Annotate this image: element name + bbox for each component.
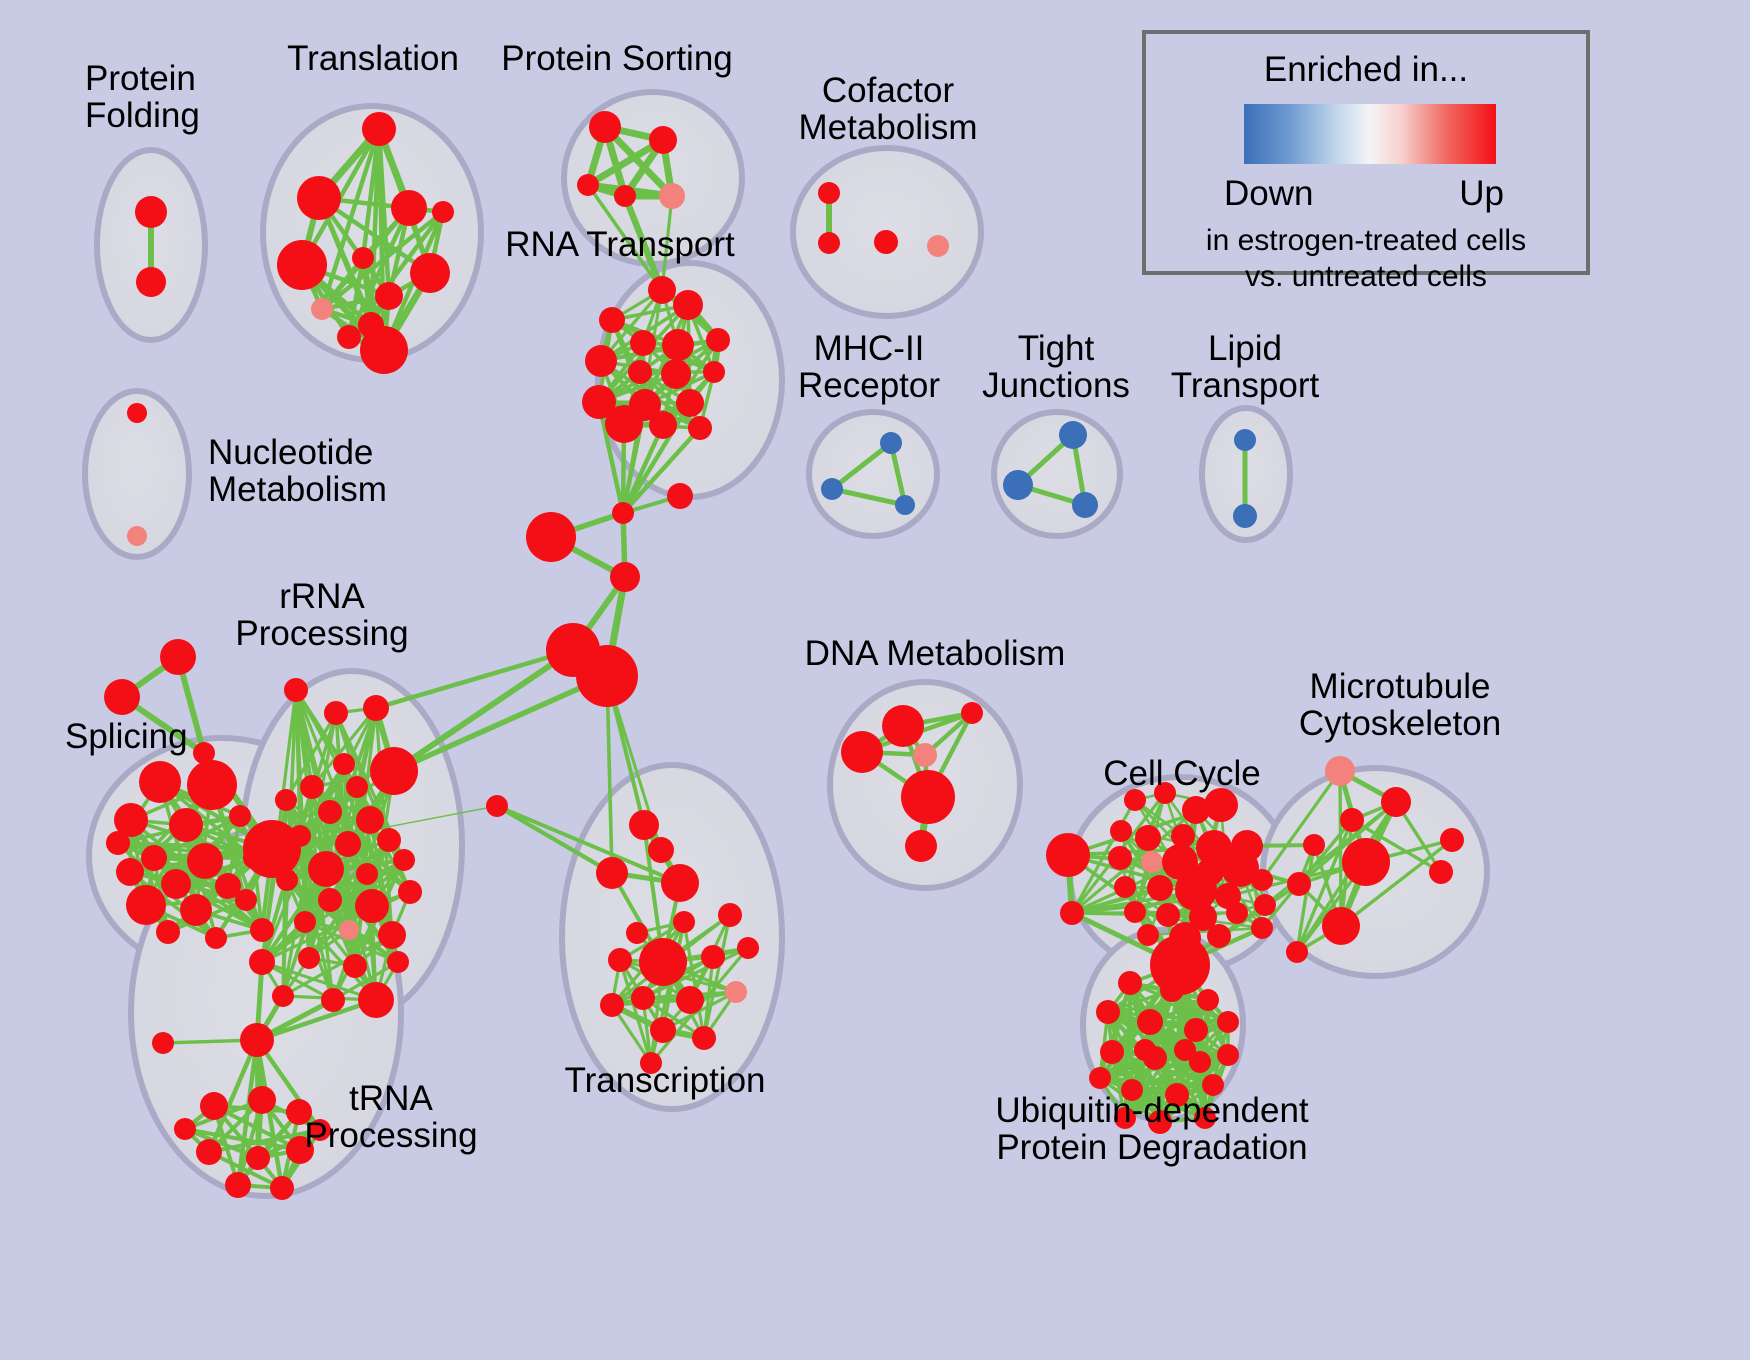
network-node [1156, 903, 1180, 927]
network-node [576, 645, 638, 707]
network-node [486, 795, 508, 817]
network-node [927, 235, 949, 257]
network-node [612, 502, 634, 524]
network-node [1124, 901, 1146, 923]
network-node [600, 993, 624, 1017]
network-node [673, 290, 703, 320]
network-node [116, 858, 144, 886]
network-node [1197, 989, 1219, 1011]
network-node [205, 927, 227, 949]
network-node [363, 695, 389, 721]
network-node [841, 731, 883, 773]
network-node [673, 911, 695, 933]
cluster-label-nucleotide-metabolism: Nucleotide Metabolism [208, 434, 387, 509]
cluster-label-dna-metabolism: DNA Metabolism [805, 635, 1066, 672]
network-node [648, 276, 676, 304]
network-node [1184, 1018, 1208, 1042]
cluster-label-transcription: Transcription [565, 1062, 766, 1099]
network-edge [376, 650, 573, 708]
network-node [180, 894, 212, 926]
network-node [630, 330, 656, 356]
network-node [1175, 869, 1217, 911]
network-node [1217, 1011, 1239, 1033]
network-node [152, 1032, 174, 1054]
network-node [300, 775, 324, 799]
network-node [1072, 492, 1098, 518]
network-node [725, 981, 747, 1003]
network-node [141, 845, 167, 871]
network-node [1089, 1067, 1111, 1089]
network-node [1322, 907, 1360, 945]
network-node [311, 298, 333, 320]
network-node [1059, 421, 1087, 449]
network-node [1137, 924, 1159, 946]
network-node [358, 982, 394, 1018]
network-node [1226, 902, 1248, 924]
cluster-label-trna-processing: tRNA Processing [304, 1080, 477, 1155]
network-node [160, 639, 196, 675]
network-node [187, 843, 223, 879]
cluster-label-cofactor-metabolism: Cofactor Metabolism [799, 72, 978, 147]
network-node [355, 889, 389, 923]
network-node [294, 911, 316, 933]
cluster-label-microtubule-cytoskeleton: Microtubule Cytoskeleton [1299, 668, 1501, 743]
cluster-label-splicing: Splicing [65, 718, 188, 755]
network-node [398, 880, 422, 904]
network-node [126, 885, 166, 925]
legend-box: Enriched in... Down Up in estrogen-treat… [1142, 30, 1590, 275]
network-node [339, 920, 359, 940]
network-node [1046, 833, 1090, 877]
network-node [298, 947, 320, 969]
network-node [249, 949, 275, 975]
cluster-label-rrna-processing: rRNA Processing [235, 578, 408, 653]
cluster-ellipse-mhc-ii-receptor [809, 412, 937, 536]
network-node [156, 920, 180, 944]
network-node [589, 111, 621, 143]
network-node [1160, 978, 1184, 1002]
network-node [248, 1086, 276, 1114]
network-node [289, 825, 311, 847]
network-node [1147, 875, 1173, 901]
network-node [818, 232, 840, 254]
network-node [135, 196, 167, 228]
network-node [1233, 504, 1257, 528]
network-node [1204, 788, 1238, 822]
cluster-label-rna-transport: RNA Transport [505, 226, 735, 263]
network-node [614, 185, 636, 207]
network-node [718, 903, 742, 927]
network-node [1429, 860, 1453, 884]
network-node [905, 830, 937, 862]
network-node [1440, 828, 1464, 852]
network-node [1114, 876, 1136, 898]
network-node [1100, 1040, 1124, 1064]
network-node [308, 851, 344, 887]
network-node [1108, 846, 1132, 870]
network-node [375, 282, 403, 310]
network-node [1340, 808, 1364, 832]
network-node [250, 918, 274, 942]
network-node [1003, 470, 1033, 500]
network-node [377, 828, 401, 852]
network-node [362, 112, 396, 146]
network-node [895, 495, 915, 515]
network-node [324, 701, 348, 725]
network-node [1110, 820, 1132, 842]
enrichment-map-figure: Protein Folding Translation Protein Sort… [0, 0, 1750, 1360]
network-node [1134, 1039, 1156, 1061]
network-node [662, 329, 694, 361]
network-node [356, 806, 384, 834]
network-node [692, 1026, 716, 1050]
network-node [676, 389, 704, 417]
network-node [661, 864, 699, 902]
network-node [284, 678, 308, 702]
network-node [1381, 787, 1411, 817]
network-node [882, 705, 924, 747]
network-node [127, 403, 147, 423]
cluster-label-tight-junctions: Tight Junctions [982, 330, 1130, 405]
network-node [174, 1118, 196, 1140]
network-node [127, 526, 147, 546]
network-node [661, 359, 691, 389]
network-node [1325, 756, 1355, 786]
network-node [318, 800, 342, 824]
network-node [277, 240, 327, 290]
network-node [1303, 834, 1325, 856]
network-node [337, 325, 361, 349]
network-node [1141, 851, 1163, 873]
network-node [626, 922, 648, 944]
network-node [235, 889, 257, 911]
network-node [378, 921, 406, 949]
network-node [821, 478, 843, 500]
network-node [360, 326, 408, 374]
network-node [318, 888, 342, 912]
network-node [225, 1172, 251, 1198]
legend-title: Enriched in... [1146, 50, 1586, 90]
network-node [667, 483, 693, 509]
network-node [913, 743, 937, 767]
network-node [631, 986, 655, 1010]
network-node [599, 307, 625, 333]
network-node [346, 776, 368, 798]
network-node [343, 954, 367, 978]
network-node [628, 360, 652, 384]
network-node [961, 702, 983, 724]
network-node [577, 174, 599, 196]
network-node [596, 857, 628, 889]
network-node [688, 416, 712, 440]
network-node [161, 869, 191, 899]
network-node [585, 345, 617, 377]
network-node [335, 831, 361, 857]
network-node [297, 176, 341, 220]
network-node [701, 945, 725, 969]
network-node [276, 869, 298, 891]
color-scale-bar [1244, 104, 1496, 164]
network-node [391, 190, 427, 226]
network-node [106, 831, 130, 855]
network-node [874, 230, 898, 254]
network-node [659, 183, 685, 209]
network-node [639, 938, 687, 986]
network-node [1060, 901, 1084, 925]
network-node [605, 405, 643, 443]
cluster-label-mhc-ii-receptor: MHC-II Receptor [798, 330, 940, 405]
network-node [706, 328, 730, 352]
network-node [648, 837, 674, 863]
network-node [818, 182, 840, 204]
network-node [393, 849, 415, 871]
network-node [410, 253, 450, 293]
legend-subtitle-line2: vs. untreated cells [1146, 260, 1586, 294]
network-node [370, 747, 418, 795]
network-node [1342, 838, 1390, 886]
cluster-label-protein-folding: Protein Folding [85, 60, 200, 135]
network-node [1118, 971, 1142, 995]
legend-down-label: Down [1224, 174, 1313, 214]
network-node [1137, 1009, 1163, 1035]
cluster-label-lipid-transport: Lipid Transport [1171, 330, 1319, 405]
network-node [229, 805, 251, 827]
network-node [1234, 429, 1256, 451]
network-node [880, 432, 902, 454]
network-node [387, 951, 409, 973]
cluster-label-translation: Translation [287, 40, 459, 77]
network-node [1207, 924, 1231, 948]
network-node [356, 863, 378, 885]
network-node [901, 770, 955, 824]
network-node [136, 267, 166, 297]
cluster-label-cell-cycle: Cell Cycle [1103, 755, 1261, 792]
network-node [321, 988, 345, 1012]
network-node [196, 1139, 222, 1165]
network-node [333, 753, 355, 775]
network-node [629, 810, 659, 840]
network-node [1251, 869, 1273, 891]
network-node [275, 789, 297, 811]
network-node [650, 1017, 676, 1043]
network-node [432, 201, 454, 223]
network-node [608, 948, 632, 972]
network-node [1096, 1000, 1120, 1024]
network-node [352, 247, 374, 269]
network-node [1217, 1044, 1239, 1066]
network-node [1251, 917, 1273, 939]
network-node [1254, 894, 1276, 916]
network-node [649, 411, 677, 439]
network-node [676, 986, 704, 1014]
network-node [104, 679, 140, 715]
network-node [169, 808, 203, 842]
network-node [1174, 1039, 1196, 1061]
network-node [240, 1023, 274, 1057]
network-node [526, 512, 576, 562]
network-node [1135, 825, 1161, 851]
cluster-label-ubiquitin-protein-degradation: Ubiquitin-dependent Protein Degradation [995, 1092, 1308, 1167]
network-node [1286, 941, 1308, 963]
network-node [1287, 872, 1311, 896]
network-node [200, 1092, 228, 1120]
network-node [610, 562, 640, 592]
network-node [737, 937, 759, 959]
legend-subtitle-line1: in estrogen-treated cells [1146, 224, 1586, 258]
network-node [649, 126, 677, 154]
network-node [139, 761, 181, 803]
cluster-label-protein-sorting: Protein Sorting [501, 40, 733, 77]
legend-up-label: Up [1459, 174, 1504, 214]
network-node [272, 985, 294, 1007]
network-node [703, 361, 725, 383]
network-node [187, 760, 237, 810]
network-node [246, 1146, 270, 1170]
network-node [270, 1176, 294, 1200]
